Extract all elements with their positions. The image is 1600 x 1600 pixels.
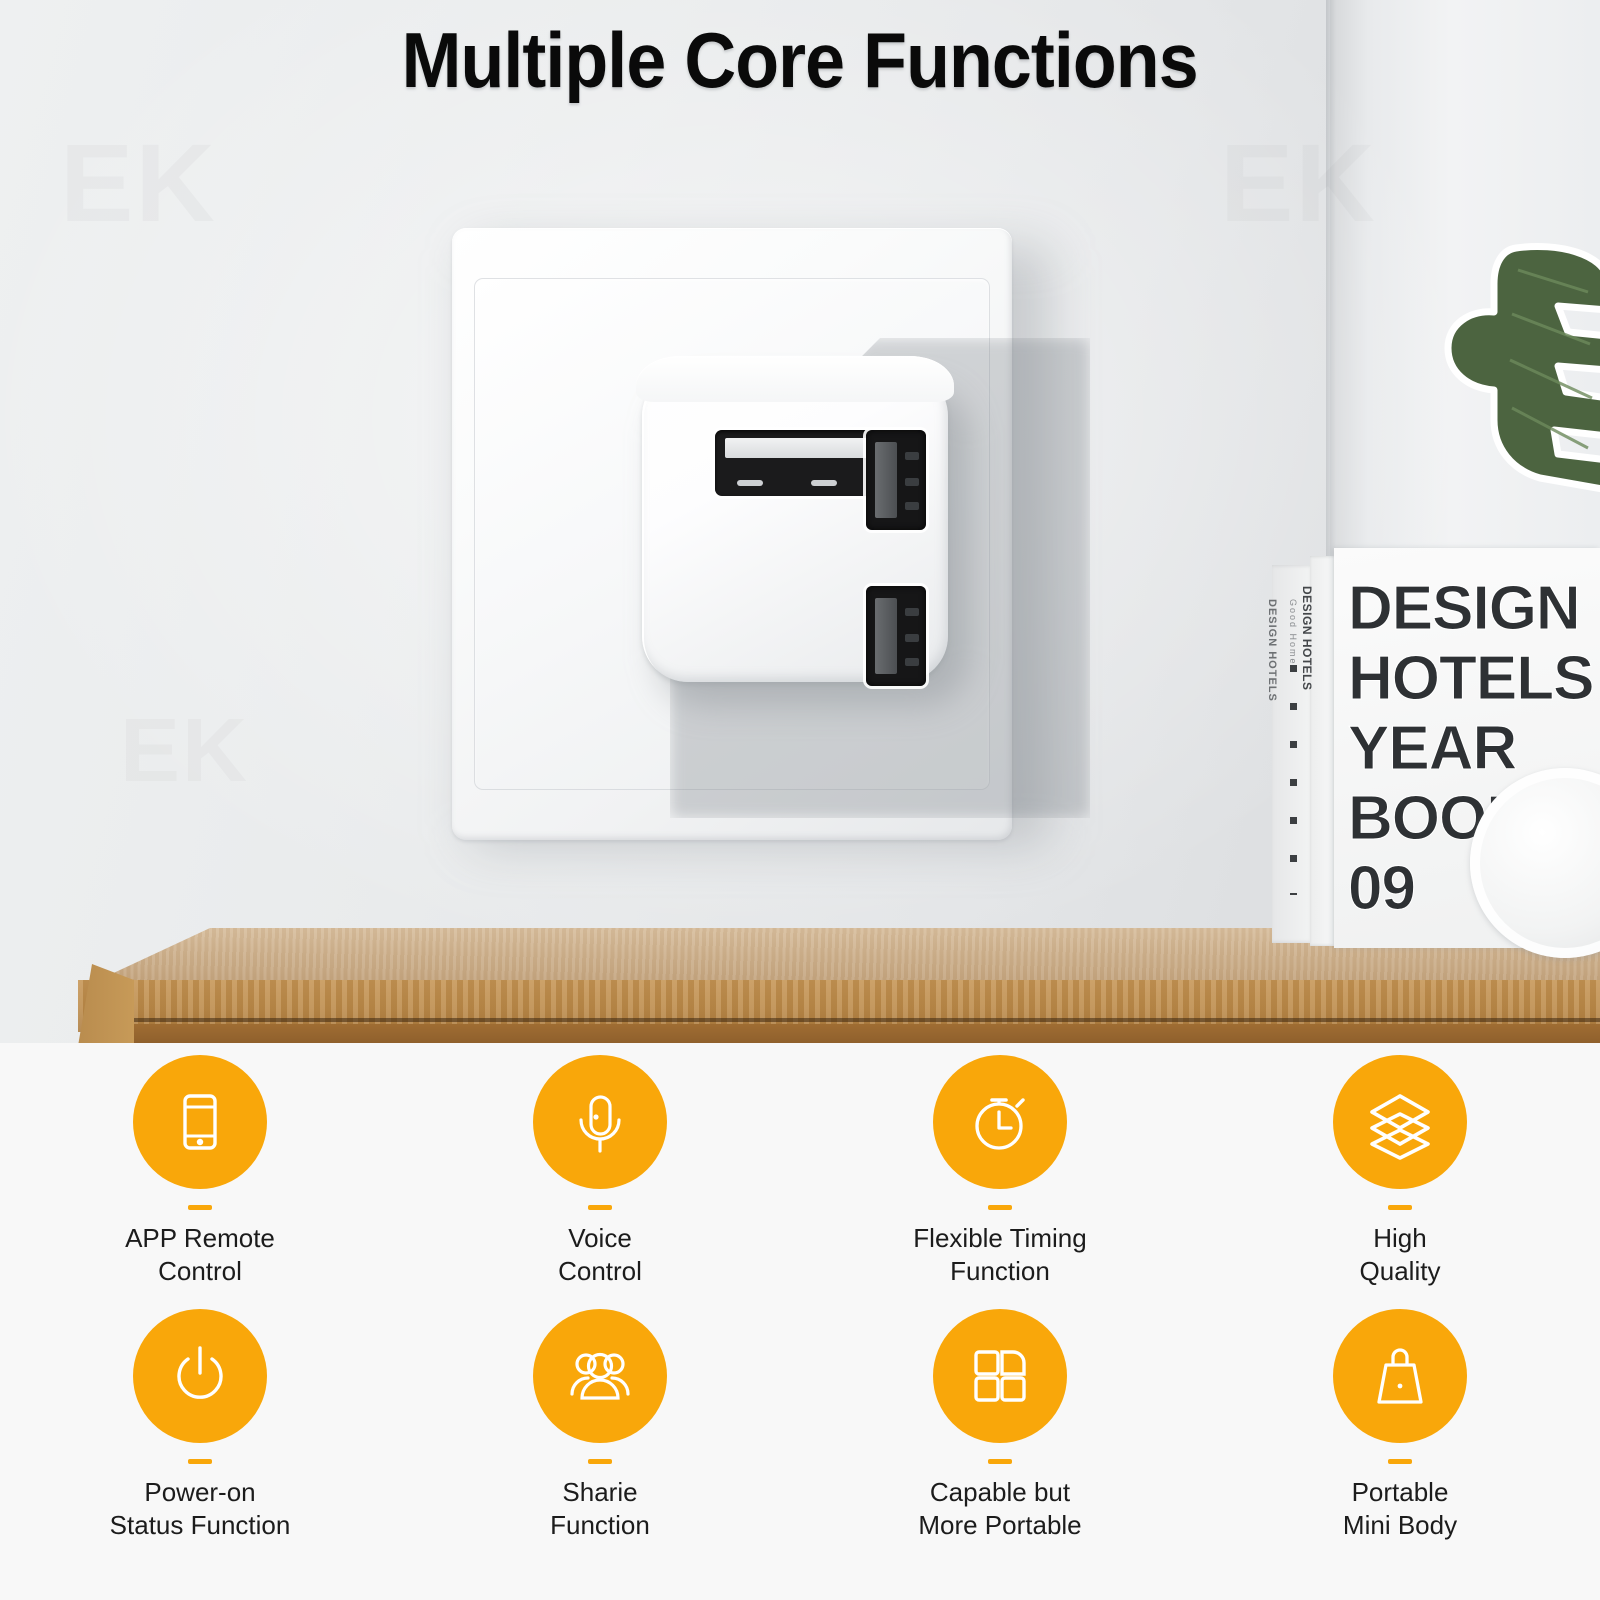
weight-bag-icon [1364, 1340, 1436, 1412]
feature-row-1: APP Remote Control Voice Control [0, 1055, 1600, 1303]
usb-port-contact [811, 480, 837, 486]
book-rear-spine-dots [1290, 665, 1297, 895]
book-title-line: HOTELS [1348, 648, 1593, 710]
usb-port-contact [905, 658, 919, 666]
feature-item-capable-portable[interactable]: Capable but More Portable [800, 1309, 1200, 1557]
feature-icon-badge [133, 1309, 267, 1443]
feature-item-app-remote-control[interactable]: APP Remote Control [0, 1055, 400, 1303]
feature-item-portable-mini-body[interactable]: Portable Mini Body [1200, 1309, 1600, 1557]
feature-item-share-function[interactable]: Sharie Function [400, 1309, 800, 1557]
feature-item-power-on-status[interactable]: Power-on Status Function [0, 1309, 400, 1557]
feature-label: Capable but More Portable [918, 1476, 1081, 1543]
feature-icon-badge [933, 1309, 1067, 1443]
sideboard-seam [128, 1018, 1600, 1022]
layers-icon [1362, 1084, 1438, 1160]
wall-socket-plate [452, 228, 1012, 840]
book-rear-spine-text: DESIGN HOTELS [1266, 599, 1278, 899]
smartphone-icon [164, 1086, 236, 1158]
feature-item-high-quality[interactable]: High Quality [1200, 1055, 1600, 1303]
watermark-ghost: EK [1220, 120, 1377, 247]
grid-squares-icon [964, 1340, 1036, 1412]
feature-icon-badge [1333, 1309, 1467, 1443]
feature-divider-dash [988, 1205, 1012, 1210]
feature-divider-dash [1388, 1459, 1412, 1464]
feature-divider-dash [188, 1459, 212, 1464]
usb-port-bottom [866, 586, 926, 686]
usb-port-contact [905, 608, 919, 616]
feature-label: Portable Mini Body [1343, 1476, 1457, 1543]
feature-label: High Quality [1360, 1222, 1441, 1289]
book-title-line: 09 [1348, 858, 1415, 920]
book-front-spine: DESIGN HOTELS [1310, 556, 1336, 946]
usb-port-contact [905, 634, 919, 642]
feature-divider-dash [988, 1459, 1012, 1464]
adapter-usb-a-port [715, 430, 878, 496]
book-title-line: YEAR [1348, 718, 1516, 780]
watermark-ghost: EK [120, 700, 249, 803]
product-photo-scene: EK EK EK EK DESIGN HOTELS Good Home DESI… [0, 0, 1600, 1043]
usb-port-contact [905, 478, 919, 486]
feature-icon-badge [133, 1055, 267, 1189]
people-group-icon [560, 1340, 640, 1412]
feature-label: Power-on Status Function [110, 1476, 291, 1543]
usb-port-tongue [725, 438, 868, 458]
feature-icon-badge [533, 1309, 667, 1443]
usb-port-tongue [875, 598, 897, 674]
usb-port-contact [905, 502, 919, 510]
feature-icon-badge [533, 1055, 667, 1189]
feature-item-flexible-timing[interactable]: Flexible Timing Function [800, 1055, 1200, 1303]
usb-port-tongue [875, 442, 897, 518]
watermark-ghost: EK [60, 120, 217, 247]
feature-icon-badge [1333, 1055, 1467, 1189]
usb-port-top [866, 430, 926, 530]
monstera-plant [1408, 240, 1600, 530]
feature-divider-dash [188, 1205, 212, 1210]
feature-grid: APP Remote Control Voice Control [0, 1043, 1600, 1600]
feature-divider-dash [588, 1459, 612, 1464]
microphone-icon [564, 1086, 636, 1158]
power-icon [164, 1340, 236, 1412]
feature-divider-dash [1388, 1205, 1412, 1210]
book-title-line: DESIGN [1348, 578, 1580, 640]
stopwatch-icon [964, 1086, 1036, 1158]
feature-label: APP Remote Control [125, 1222, 275, 1289]
usb-port-contact [737, 480, 763, 486]
feature-divider-dash [588, 1205, 612, 1210]
sideboard-front-panel [128, 1024, 1600, 1043]
adapter-top-bevel [636, 356, 954, 402]
feature-label: Sharie Function [550, 1476, 650, 1543]
feature-row-2: Power-on Status Function Sharie Function [0, 1309, 1600, 1557]
book-front-spine-text: DESIGN HOTELS [1300, 586, 1314, 906]
page-title: Multiple Core Functions [402, 15, 1198, 106]
feature-icon-badge [933, 1055, 1067, 1189]
feature-label: Voice Control [558, 1222, 642, 1289]
usb-port-contact [905, 452, 919, 460]
headline-bar: Multiple Core Functions [0, 0, 1600, 120]
feature-item-voice-control[interactable]: Voice Control [400, 1055, 800, 1303]
socket-plate-inner-face [474, 278, 990, 790]
feature-label: Flexible Timing Function [913, 1222, 1086, 1289]
